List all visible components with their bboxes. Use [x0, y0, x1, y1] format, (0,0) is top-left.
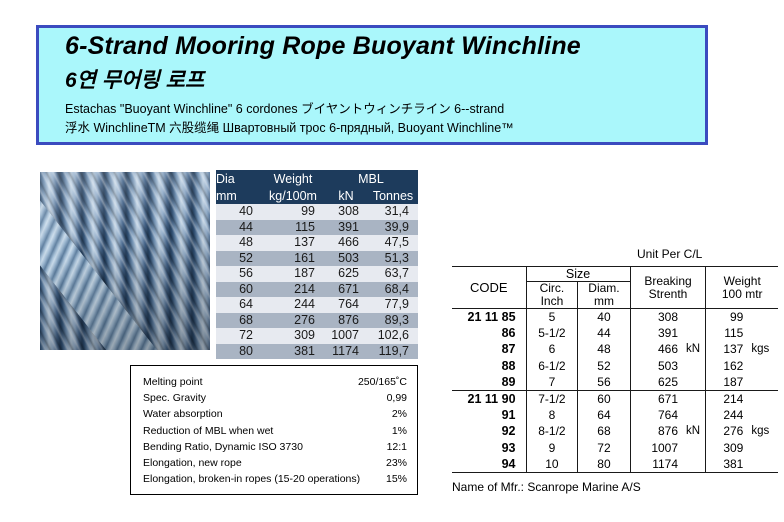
spec-cell-kn: 391: [324, 220, 368, 236]
spec-cell-weight: 244: [262, 297, 324, 313]
code-cell-breaking-strength: 308: [630, 309, 682, 326]
spec-header-kn: kN: [324, 187, 368, 204]
code-cell-circ-inch: 8-1/2: [526, 423, 578, 439]
code-cell-circ-inch: 7-1/2: [526, 391, 578, 408]
table-row: 865-1/244391115: [452, 325, 778, 341]
dia-weight-mbl-table: Dia Weight MBL mm kg/100m kN Tonnes 4099…: [216, 170, 418, 359]
code-size-strength-table: CODE Size Breaking Strenth Weight 100 mt…: [452, 266, 778, 473]
code-cell-weight: 244: [706, 407, 747, 423]
code-cell-code: 92: [452, 423, 526, 439]
code-cell-weight-unit: [747, 407, 778, 423]
spec-cell-kn: 503: [324, 251, 368, 267]
property-value: 15%: [380, 471, 407, 487]
page-title: 6-Strand Mooring Rope Buoyant Winchline: [65, 32, 581, 61]
code-header-weight-line1: Weight: [706, 275, 778, 288]
table-row: 91864764244: [452, 407, 778, 423]
spec-cell-tonnes: 51,3: [368, 251, 418, 267]
code-cell-breaking-strength: 671: [630, 391, 682, 408]
property-value: 12:1: [381, 439, 407, 455]
code-cell-weight-unit: [747, 374, 778, 391]
code-cell-code: 21 11 85: [452, 309, 526, 326]
code-cell-breaking-strength: 1007: [630, 440, 682, 456]
code-cell-weight: 137: [706, 341, 747, 357]
property-row: Elongation, broken-in ropes (15-20 opera…: [143, 471, 407, 487]
property-label: Elongation, new rope: [143, 455, 242, 471]
spec-cell-kn: 308: [324, 204, 368, 220]
subtitle-line-1: Estachas "Buoyant Winchline" 6 cordones …: [65, 98, 504, 117]
table-row: 803811174119,7: [216, 344, 418, 360]
spec-cell-kn: 466: [324, 235, 368, 251]
code-header-breaking-line2: Strenth: [631, 288, 706, 301]
table-row: 6827687689,3: [216, 313, 418, 329]
spec-cell-dia: 72: [216, 328, 262, 344]
code-cell-weight-unit: kgs: [747, 423, 778, 439]
rope-properties-box: Melting point250/165˚CSpec. Gravity0,99W…: [130, 365, 418, 495]
code-cell-strength-unit: kN: [682, 423, 706, 439]
spec-cell-weight: 214: [262, 282, 324, 298]
code-cell-code: 91: [452, 407, 526, 423]
spec-cell-dia: 80: [216, 344, 262, 360]
property-row: Bending Ratio, Dynamic ISO 373012:1: [143, 439, 407, 455]
spec-cell-kn: 876: [324, 313, 368, 329]
spec-header-weight-unit: kg/100m: [262, 187, 324, 204]
code-table-wrapper: CODE Size Breaking Strenth Weight 100 mt…: [452, 266, 778, 473]
code-cell-strength-unit: [682, 309, 706, 326]
code-cell-circ-inch: 10: [526, 456, 578, 473]
code-cell-breaking-strength: 1174: [630, 456, 682, 473]
code-cell-code: 88: [452, 358, 526, 374]
code-cell-circ-inch: 9: [526, 440, 578, 456]
code-cell-code: 86: [452, 325, 526, 341]
code-cell-diam-mm: 64: [578, 407, 630, 423]
code-cell-diam-mm: 40: [578, 309, 630, 326]
table-row: 9410801174381: [452, 456, 778, 473]
table-row: 5618762563,7: [216, 266, 418, 282]
code-cell-weight-unit: [747, 358, 778, 374]
rope-properties-list: Melting point250/165˚CSpec. Gravity0,99W…: [143, 374, 407, 487]
code-table-header-row-1: CODE Size Breaking Strenth Weight 100 mt…: [452, 267, 778, 282]
table-row: 89756625187: [452, 374, 778, 391]
page-title-korean: 6연 무어링 로프: [65, 64, 204, 94]
spec-cell-kn: 671: [324, 282, 368, 298]
code-cell-weight: 187: [706, 374, 747, 391]
property-row: Elongation, new rope23%: [143, 455, 407, 471]
code-cell-diam-mm: 68: [578, 423, 630, 439]
property-value: 1%: [386, 423, 407, 439]
spec-header-dia: Dia: [216, 170, 262, 187]
spec-cell-tonnes: 63,7: [368, 266, 418, 282]
spec-cell-weight: 187: [262, 266, 324, 282]
code-cell-circ-inch: 6: [526, 341, 578, 357]
code-cell-code: 89: [452, 374, 526, 391]
code-cell-breaking-strength: 876: [630, 423, 682, 439]
code-header-code: CODE: [452, 267, 526, 309]
spec-cell-dia: 48: [216, 235, 262, 251]
property-value: 2%: [386, 406, 407, 422]
table-row: 4813746647,5: [216, 235, 418, 251]
table-row: 21 11 8554030899: [452, 309, 778, 326]
spec-cell-weight: 115: [262, 220, 324, 236]
code-cell-strength-unit: kN: [682, 341, 706, 357]
property-label: Bending Ratio, Dynamic ISO 3730: [143, 439, 303, 455]
code-cell-strength-unit: [682, 407, 706, 423]
spec-cell-weight: 161: [262, 251, 324, 267]
code-cell-breaking-strength: 391: [630, 325, 682, 341]
table-row: 886-1/252503162: [452, 358, 778, 374]
spec-cell-tonnes: 89,3: [368, 313, 418, 329]
code-cell-strength-unit: [682, 391, 706, 408]
code-header-diam-mm: Diam. mm: [578, 282, 630, 309]
code-header-circ-line2: Inch: [527, 295, 578, 308]
spec-cell-dia: 64: [216, 297, 262, 313]
code-cell-weight: 381: [706, 456, 747, 473]
rope-photo-shading: [40, 172, 210, 350]
spec-cell-tonnes: 68,4: [368, 282, 418, 298]
code-cell-circ-inch: 6-1/2: [526, 358, 578, 374]
spec-cell-dia: 52: [216, 251, 262, 267]
code-cell-weight: 162: [706, 358, 747, 374]
spec-header-dia-unit: mm: [216, 187, 262, 204]
spec-cell-dia: 68: [216, 313, 262, 329]
code-cell-diam-mm: 52: [578, 358, 630, 374]
spec-cell-tonnes: 39,9: [368, 220, 418, 236]
code-cell-weight: 214: [706, 391, 747, 408]
code-cell-code: 21 11 90: [452, 391, 526, 408]
code-cell-weight-unit: [747, 456, 778, 473]
spec-cell-kn: 625: [324, 266, 368, 282]
code-cell-circ-inch: 8: [526, 407, 578, 423]
property-row: Spec. Gravity0,99: [143, 390, 407, 406]
code-cell-circ-inch: 5-1/2: [526, 325, 578, 341]
spec-cell-weight: 381: [262, 344, 324, 360]
property-label: Spec. Gravity: [143, 390, 206, 406]
spec-cell-dia: 56: [216, 266, 262, 282]
code-cell-weight-unit: [747, 391, 778, 408]
code-cell-weight-unit: [747, 325, 778, 341]
code-cell-breaking-strength: 466: [630, 341, 682, 357]
table-row: 4411539139,9: [216, 220, 418, 236]
spec-cell-kn: 764: [324, 297, 368, 313]
spec-cell-weight: 276: [262, 313, 324, 329]
code-header-circ-inch: Circ. Inch: [526, 282, 578, 309]
code-cell-breaking-strength: 764: [630, 407, 682, 423]
code-header-breaking-line1: Breaking: [631, 275, 706, 288]
code-cell-strength-unit: [682, 374, 706, 391]
spec-table-body: 409930831,44411539139,94813746647,552161…: [216, 204, 418, 359]
spec-cell-tonnes: 102,6: [368, 328, 418, 344]
code-cell-breaking-strength: 625: [630, 374, 682, 391]
code-header-size-group: Size: [526, 267, 630, 282]
code-cell-code: 87: [452, 341, 526, 357]
code-cell-code: 93: [452, 440, 526, 456]
code-cell-diam-mm: 72: [578, 440, 630, 456]
code-cell-strength-unit: [682, 440, 706, 456]
code-cell-weight-unit: kgs: [747, 341, 778, 357]
code-header-breaking-strength: Breaking Strenth: [630, 267, 706, 309]
table-row: 928-1/268876kN276kgs: [452, 423, 778, 439]
code-cell-circ-inch: 5: [526, 309, 578, 326]
spec-table-header-row-2: mm kg/100m kN Tonnes: [216, 187, 418, 204]
code-cell-weight: 309: [706, 440, 747, 456]
property-value: 23%: [380, 455, 407, 471]
table-row: 409930831,4: [216, 204, 418, 220]
table-row: 21 11 907-1/260671214: [452, 391, 778, 408]
header-banner: 6-Strand Mooring Rope Buoyant Winchline …: [36, 25, 708, 145]
rope-product-photo: [40, 172, 210, 350]
code-cell-code: 94: [452, 456, 526, 473]
manufacturer-line: Name of Mfr.: Scanrope Marine A/S: [452, 480, 641, 494]
spec-cell-weight: 309: [262, 328, 324, 344]
code-cell-strength-unit: [682, 325, 706, 341]
spec-cell-tonnes: 31,4: [368, 204, 418, 220]
code-cell-diam-mm: 44: [578, 325, 630, 341]
code-cell-diam-mm: 80: [578, 456, 630, 473]
property-label: Water absorption: [143, 406, 223, 422]
code-cell-weight-unit: [747, 440, 778, 456]
table-row: 723091007102,6: [216, 328, 418, 344]
table-row: 939721007309: [452, 440, 778, 456]
code-cell-breaking-strength: 503: [630, 358, 682, 374]
spec-cell-tonnes: 77,9: [368, 297, 418, 313]
code-cell-weight: 115: [706, 325, 747, 341]
code-cell-diam-mm: 56: [578, 374, 630, 391]
code-header-weight-line2: 100 mtr: [706, 288, 778, 301]
spec-cell-dia: 44: [216, 220, 262, 236]
spec-cell-kn: 1007: [324, 328, 368, 344]
property-value: 0,99: [381, 390, 407, 406]
table-row: 6021467168,4: [216, 282, 418, 298]
code-header-diam-line2: mm: [578, 295, 629, 308]
property-value: 250/165˚C: [352, 374, 407, 390]
spec-cell-dia: 60: [216, 282, 262, 298]
spec-table-header-row-1: Dia Weight MBL: [216, 170, 418, 187]
code-cell-weight: 99: [706, 309, 747, 326]
property-row: Reduction of MBL when wet1%: [143, 423, 407, 439]
property-row: Melting point250/165˚C: [143, 374, 407, 390]
spec-cell-tonnes: 47,5: [368, 235, 418, 251]
code-header-weight: Weight 100 mtr: [706, 267, 778, 309]
code-cell-diam-mm: 48: [578, 341, 630, 357]
code-cell-strength-unit: [682, 358, 706, 374]
code-cell-diam-mm: 60: [578, 391, 630, 408]
property-row: Water absorption2%: [143, 406, 407, 422]
property-label: Reduction of MBL when wet: [143, 423, 273, 439]
spec-cell-weight: 137: [262, 235, 324, 251]
subtitle-line-2: 浮水 WinchlineTM 六股缆绳 Швартовный трос 6-пр…: [65, 117, 514, 136]
code-cell-weight-unit: [747, 309, 778, 326]
code-cell-strength-unit: [682, 456, 706, 473]
property-label: Melting point: [143, 374, 203, 390]
spec-cell-tonnes: 119,7: [368, 344, 418, 360]
code-cell-circ-inch: 7: [526, 374, 578, 391]
table-row: 5216150351,3: [216, 251, 418, 267]
code-table-body: 21 11 8554030899865-1/24439111587648466k…: [452, 309, 778, 473]
spec-cell-weight: 99: [262, 204, 324, 220]
table-row: 6424476477,9: [216, 297, 418, 313]
spec-header-tonnes: Tonnes: [368, 187, 418, 204]
unit-per-cl-note: Unit Per C/L: [637, 247, 702, 261]
property-label: Elongation, broken-in ropes (15-20 opera…: [143, 471, 360, 487]
spec-cell-dia: 40: [216, 204, 262, 220]
spec-header-mbl-group: MBL: [324, 170, 418, 187]
table-row: 87648466kN137kgs: [452, 341, 778, 357]
code-cell-weight: 276: [706, 423, 747, 439]
spec-cell-kn: 1174: [324, 344, 368, 360]
spec-header-weight: Weight: [262, 170, 324, 187]
